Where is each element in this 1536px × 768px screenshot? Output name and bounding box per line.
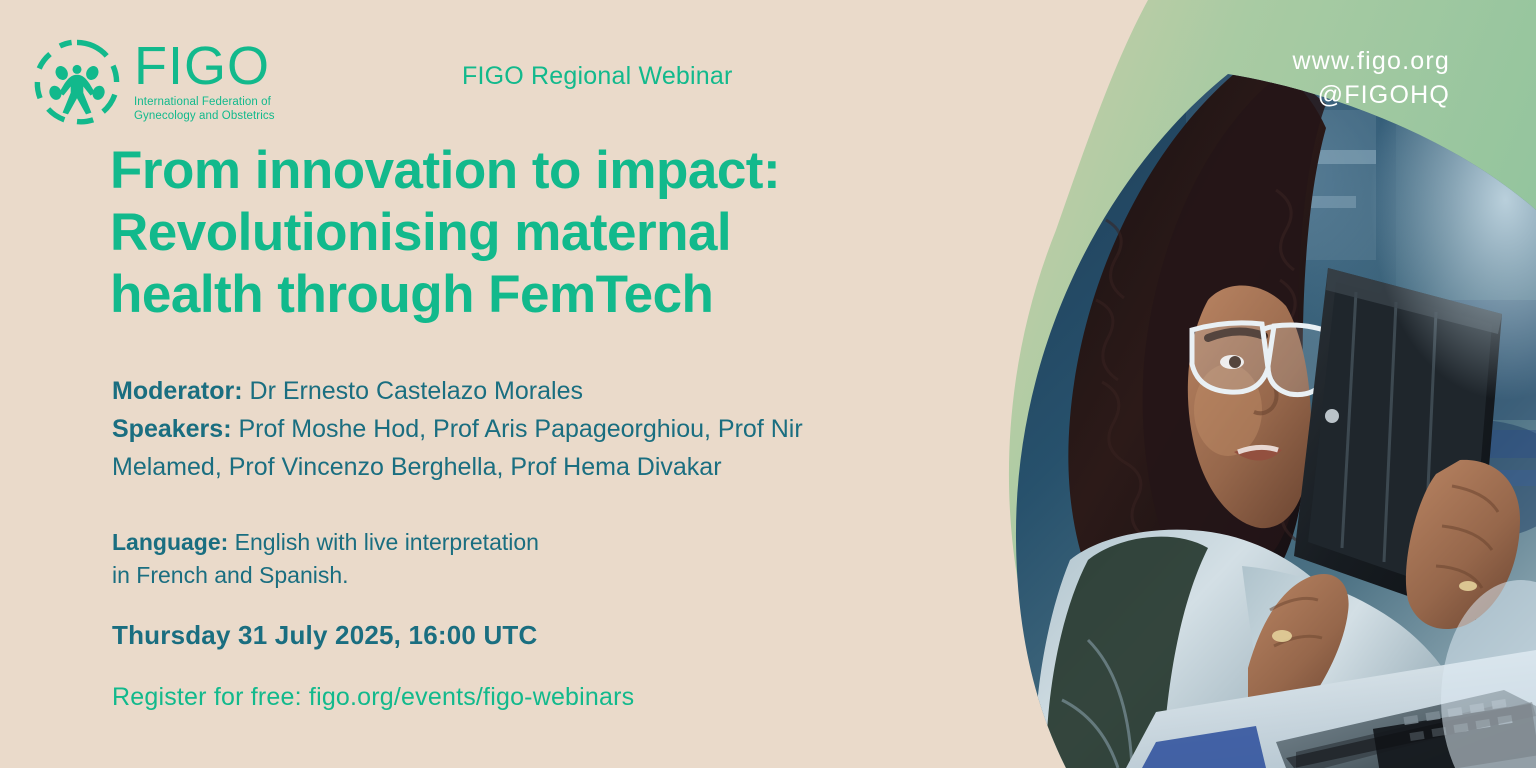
language-value-line2: in French and Spanish. xyxy=(112,562,349,588)
moderator-value: Dr Ernesto Castelazo Morales xyxy=(250,377,583,405)
moderator-line: Moderator: Dr Ernesto Castelazo Morales xyxy=(112,372,902,410)
figo-emblem-icon xyxy=(32,36,122,128)
logo-subtitle-line1: International Federation of xyxy=(134,96,271,108)
event-datetime: Thursday 31 July 2025, 16:00 UTC xyxy=(112,620,538,651)
logo-text-block: FIGO International Federation of Gynecol… xyxy=(134,36,275,123)
register-link[interactable]: Register for free: figo.org/events/figo-… xyxy=(112,683,634,712)
social-block: www.figo.org @FIGOHQ xyxy=(1292,44,1450,112)
headline-line-2: Revolutionising maternal xyxy=(110,202,910,264)
moderator-label: Moderator: xyxy=(112,377,243,405)
language-block: Language: English with live interpretati… xyxy=(112,526,752,592)
hero-photo xyxy=(856,0,1536,768)
logo-subtitle: International Federation of Gynecology a… xyxy=(134,96,275,123)
webinar-banner: FIGO International Federation of Gynecol… xyxy=(0,0,1536,768)
speakers-line: Speakers: Prof Moshe Hod, Prof Aris Papa… xyxy=(112,410,902,486)
logo-wordmark: FIGO xyxy=(134,40,275,92)
speakers-label: Speakers: xyxy=(112,415,232,443)
figo-logo[interactable]: FIGO International Federation of Gynecol… xyxy=(32,36,275,128)
artwork-panel xyxy=(856,0,1536,768)
webinar-kicker: FIGO Regional Webinar xyxy=(462,62,733,91)
logo-subtitle-line2: Gynecology and Obstetrics xyxy=(134,110,275,122)
language-label: Language: xyxy=(112,529,228,555)
language-value-line1: English with live interpretation xyxy=(235,529,539,555)
headline-line-3: health through FemTech xyxy=(110,264,910,326)
headline-line-1: From innovation to impact: xyxy=(110,140,910,202)
page-title: From innovation to impact: Revolutionisi… xyxy=(110,140,910,326)
people-block: Moderator: Dr Ernesto Castelazo Morales … xyxy=(112,372,902,486)
social-handle[interactable]: @FIGOHQ xyxy=(1292,78,1450,112)
website-url[interactable]: www.figo.org xyxy=(1292,44,1450,78)
